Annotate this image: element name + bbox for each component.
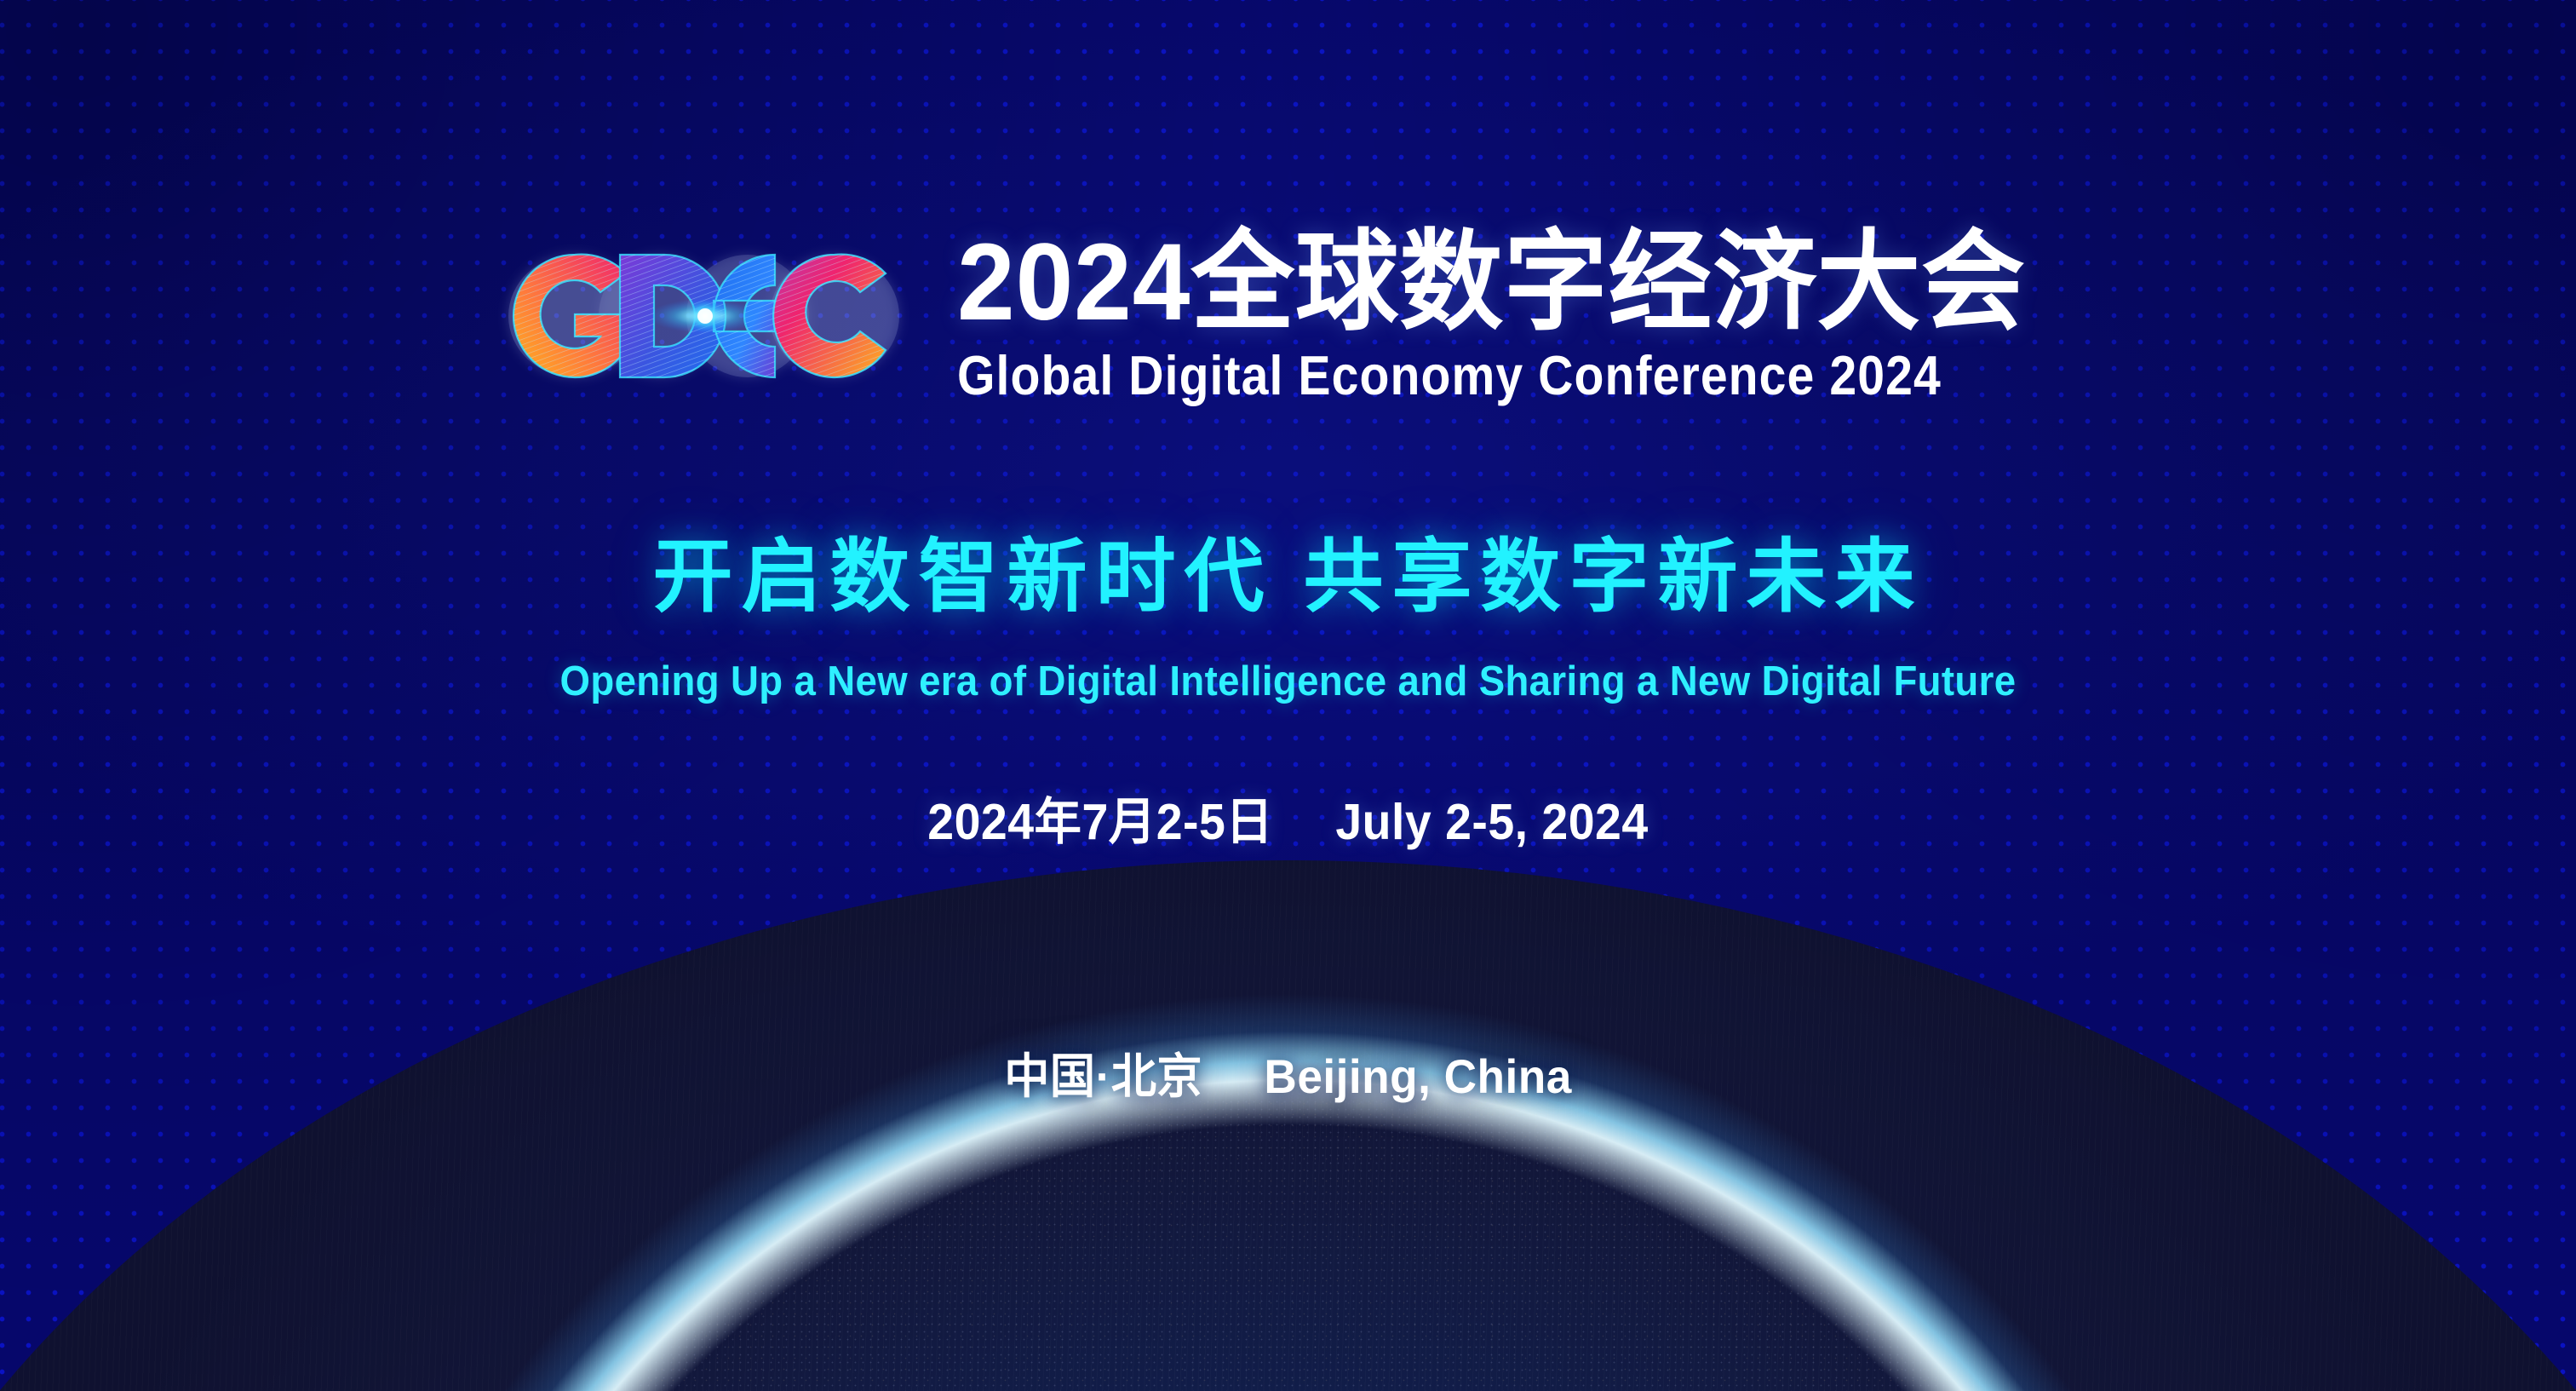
header-row: 2024全球数字经济大会 Global Digital Economy Conf… <box>0 228 2576 403</box>
conference-title-cn: 2024全球数字经济大会 <box>957 228 2026 337</box>
event-location-cn: 中国·北京 <box>1004 1049 1202 1103</box>
conference-poster: 2024全球数字经济大会 Global Digital Economy Conf… <box>0 0 2576 1391</box>
gdec-logo-icon <box>494 235 911 397</box>
event-date: 2024年7月2-5日 July 2-5, 2024 <box>77 797 2499 848</box>
event-location-en: Beijing, China <box>1264 1049 1571 1103</box>
conference-title-en: Global Digital Economy Conference 2024 <box>957 348 1947 403</box>
event-date-en: July 2-5, 2024 <box>1335 794 1648 850</box>
tagline-cn: 开启数智新时代 共享数字新未来 <box>0 537 2576 617</box>
tagline-en: Opening Up a New era of Digital Intellig… <box>90 661 2486 703</box>
poster-content: 2024全球数字经济大会 Global Digital Economy Conf… <box>0 0 2576 1391</box>
title-block: 2024全球数字经济大会 Global Digital Economy Conf… <box>957 228 2082 403</box>
event-date-cn: 2024年7月2-5日 <box>927 794 1273 850</box>
event-location: 中国·北京 Beijing, China <box>65 1053 2512 1101</box>
